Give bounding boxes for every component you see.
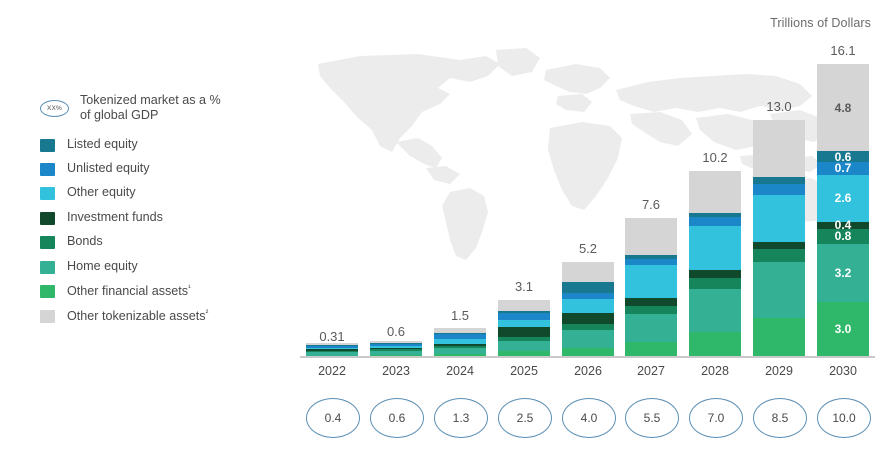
legend-item-other_tokenizable_assets[interactable]: Other tokenizable assets² <box>40 308 290 325</box>
legend-label-investment_funds: Investment funds <box>67 210 163 225</box>
bar-segment-listed_equity-2029[interactable] <box>753 177 805 184</box>
bar-total-2022: 0.31 <box>306 329 358 344</box>
gdp-percent-bubble-2030: 10.0 <box>817 398 871 438</box>
gdp-percent-bubble-2026: 4.0 <box>562 398 616 438</box>
bar-segment-other_tokenizable_assets-2029[interactable] <box>753 120 805 176</box>
bar-segment-investment_funds-2028[interactable] <box>689 270 741 278</box>
bar-segment-home_equity-2030[interactable]: 3.2 <box>817 244 869 302</box>
bar-segment-other_financial_assets-2028[interactable] <box>689 332 741 356</box>
bar-segment-other_financial_assets-2025[interactable] <box>498 351 550 356</box>
bar-segment-home_equity-2029[interactable] <box>753 262 805 318</box>
bar-segment-other_financial_assets-2024[interactable] <box>434 354 486 356</box>
bar-segment-listed_equity-2026[interactable] <box>562 282 614 293</box>
bar-segment-value-other_tokenizable_assets: 4.8 <box>817 101 869 115</box>
legend-label-other_equity: Other equity <box>67 185 136 200</box>
x-tick-2028: 2028 <box>689 364 741 378</box>
legend-item-bonds[interactable]: Bonds <box>40 234 290 249</box>
x-tick-2027: 2027 <box>625 364 677 378</box>
gdp-percent-bubble-2028: 7.0 <box>689 398 743 438</box>
gdp-percent-bubble-2027: 5.5 <box>625 398 679 438</box>
bar-segment-value-other_equity: 2.6 <box>817 191 869 205</box>
legend-swatch-other_tokenizable_assets <box>40 310 55 323</box>
bar-segment-investment_funds-2029[interactable] <box>753 242 805 249</box>
bar-segment-home_equity-2022[interactable] <box>306 352 358 356</box>
bar-2022[interactable] <box>306 343 358 356</box>
gdp-percent-bubble-2023: 0.6 <box>370 398 424 438</box>
bar-segment-other_equity-2029[interactable] <box>753 195 805 242</box>
x-axis-line <box>300 356 875 358</box>
legend-swatch-unlisted_equity <box>40 163 55 176</box>
legend-swatch-other_financial_assets <box>40 285 55 298</box>
legend-item-listed_equity[interactable]: Listed equity <box>40 137 290 152</box>
bar-segment-other_financial_assets-2023[interactable] <box>370 355 422 357</box>
gdp-percent-bubble-2024: 1.3 <box>434 398 488 438</box>
bar-total-2026: 5.2 <box>562 241 614 256</box>
bar-2026[interactable] <box>562 262 614 356</box>
bar-total-2030: 16.1 <box>817 43 869 58</box>
gdp-percent-bubble-row: 0.40.61.32.54.05.57.08.510.0 <box>300 398 875 442</box>
bar-segment-bonds-2027[interactable] <box>625 306 677 314</box>
x-tick-2023: 2023 <box>370 364 422 378</box>
bar-total-2027: 7.6 <box>625 197 677 212</box>
x-tick-2029: 2029 <box>753 364 805 378</box>
bar-2030[interactable]: 4.80.60.72.60.40.83.23.0 <box>817 64 869 356</box>
bar-segment-investment_funds-2026[interactable] <box>562 313 614 325</box>
bar-segment-other_financial_assets-2026[interactable] <box>562 348 614 356</box>
bar-segment-home_equity-2025[interactable] <box>498 341 550 352</box>
bar-segment-unlisted_equity-2029[interactable] <box>753 184 805 195</box>
legend-item-other_equity[interactable]: Other equity <box>40 185 290 200</box>
bar-segment-other_equity-2028[interactable] <box>689 226 741 270</box>
x-tick-2026: 2026 <box>562 364 614 378</box>
bar-segment-home_equity-2027[interactable] <box>625 314 677 341</box>
bar-series-container: 0.310.61.53.15.27.610.213.04.80.60.72.60… <box>300 42 875 356</box>
bar-segment-other_financial_assets-2030[interactable]: 3.0 <box>817 302 869 356</box>
gdp-percent-badge-icon: XX% <box>40 100 69 117</box>
bar-segment-other_financial_assets-2029[interactable] <box>753 318 805 356</box>
legend-label-listed_equity: Listed equity <box>67 137 138 152</box>
bar-total-2025: 3.1 <box>498 279 550 294</box>
legend-gdp-line1: Tokenized market as a % <box>80 93 221 107</box>
bar-total-2024: 1.5 <box>434 308 486 323</box>
bar-segment-investment_funds-2027[interactable] <box>625 298 677 306</box>
bar-2025[interactable] <box>498 300 550 356</box>
bar-segment-other_equity-2026[interactable] <box>562 299 614 313</box>
chart-canvas: Trillions of Dollars XX% Tokenized marke… <box>0 0 893 450</box>
bar-segment-unlisted_equity-2030[interactable]: 0.7 <box>817 162 869 175</box>
legend-label-home_equity: Home equity <box>67 259 138 274</box>
bar-segment-bonds-2029[interactable] <box>753 249 805 262</box>
legend-label-other_tokenizable_assets: Other tokenizable assets² <box>67 308 208 325</box>
bar-2027[interactable] <box>625 218 677 356</box>
bar-segment-other_equity-2027[interactable] <box>625 265 677 298</box>
bar-segment-value-unlisted_equity: 0.7 <box>817 161 869 175</box>
gdp-percent-bubble-2022: 0.4 <box>306 398 360 438</box>
legend-swatch-home_equity <box>40 261 55 274</box>
legend-item-other_financial_assets[interactable]: Other financial assets¹ <box>40 283 290 300</box>
bar-segment-bonds-2030[interactable]: 0.8 <box>817 229 869 244</box>
bar-2024[interactable] <box>434 328 486 356</box>
x-tick-2024: 2024 <box>434 364 486 378</box>
bar-segment-other_tokenizable_assets-2028[interactable] <box>689 171 741 213</box>
legend-label-other_financial_assets: Other financial assets¹ <box>67 283 191 300</box>
bar-total-2028: 10.2 <box>689 150 741 165</box>
bar-segment-other_equity-2025[interactable] <box>498 320 550 327</box>
bar-segment-value-home_equity: 3.2 <box>817 266 869 280</box>
gdp-percent-bubble-2025: 2.5 <box>498 398 552 438</box>
bar-total-2023: 0.6 <box>370 324 422 339</box>
legend-swatch-other_equity <box>40 187 55 200</box>
bar-segment-value-bonds: 0.8 <box>817 229 869 243</box>
legend-label-bonds: Bonds <box>67 234 103 249</box>
legend-item-investment_funds[interactable]: Investment funds <box>40 210 290 225</box>
legend-label-gdp-percent: Tokenized market as a % of global GDP <box>80 93 221 124</box>
legend-gdp-line2: of global GDP <box>80 108 158 122</box>
units-label: Trillions of Dollars <box>770 16 871 30</box>
bar-segment-bonds-2028[interactable] <box>689 278 741 289</box>
bar-segment-investment_funds-2030[interactable]: 0.4 <box>817 222 869 229</box>
bar-segment-investment_funds-2025[interactable] <box>498 327 550 337</box>
legend-swatch-investment_funds <box>40 212 55 225</box>
bar-segment-other_tokenizable_assets-2026[interactable] <box>562 262 614 282</box>
x-tick-2030: 2030 <box>817 364 869 378</box>
bar-segment-other_tokenizable_assets-2030[interactable]: 4.8 <box>817 64 869 151</box>
bar-segment-unlisted_equity-2028[interactable] <box>689 217 741 226</box>
bar-segment-other_equity-2030[interactable]: 2.6 <box>817 175 869 222</box>
x-tick-2025: 2025 <box>498 364 550 378</box>
bar-segment-unlisted_equity-2025[interactable] <box>498 313 550 320</box>
legend-swatch-bonds <box>40 236 55 249</box>
legend-item-gdp-percent: XX% Tokenized market as a % of global GD… <box>40 93 290 124</box>
legend-label-unlisted_equity: Unlisted equity <box>67 161 150 176</box>
bar-segment-home_equity-2026[interactable] <box>562 330 614 348</box>
bar-segment-home_equity-2028[interactable] <box>689 289 741 333</box>
bar-segment-other_financial_assets-2027[interactable] <box>625 342 677 357</box>
bar-total-2029: 13.0 <box>753 99 805 114</box>
bar-segment-other_tokenizable_assets-2027[interactable] <box>625 218 677 255</box>
bar-2023[interactable] <box>370 341 422 356</box>
x-tick-2022: 2022 <box>306 364 358 378</box>
legend-item-unlisted_equity[interactable]: Unlisted equity <box>40 161 290 176</box>
bar-segment-other_tokenizable_assets-2025[interactable] <box>498 300 550 311</box>
chart-legend: XX% Tokenized market as a % of global GD… <box>40 93 290 334</box>
bar-segment-value-other_financial_assets: 3.0 <box>817 322 869 336</box>
bar-2028[interactable] <box>689 171 741 356</box>
gdp-percent-bubble-2029: 8.5 <box>753 398 807 438</box>
legend-item-home_equity[interactable]: Home equity <box>40 259 290 274</box>
legend-swatch-listed_equity <box>40 139 55 152</box>
bar-2029[interactable] <box>753 120 805 356</box>
x-axis-tick-labels: 202220232024202520262027202820292030 <box>300 364 875 386</box>
